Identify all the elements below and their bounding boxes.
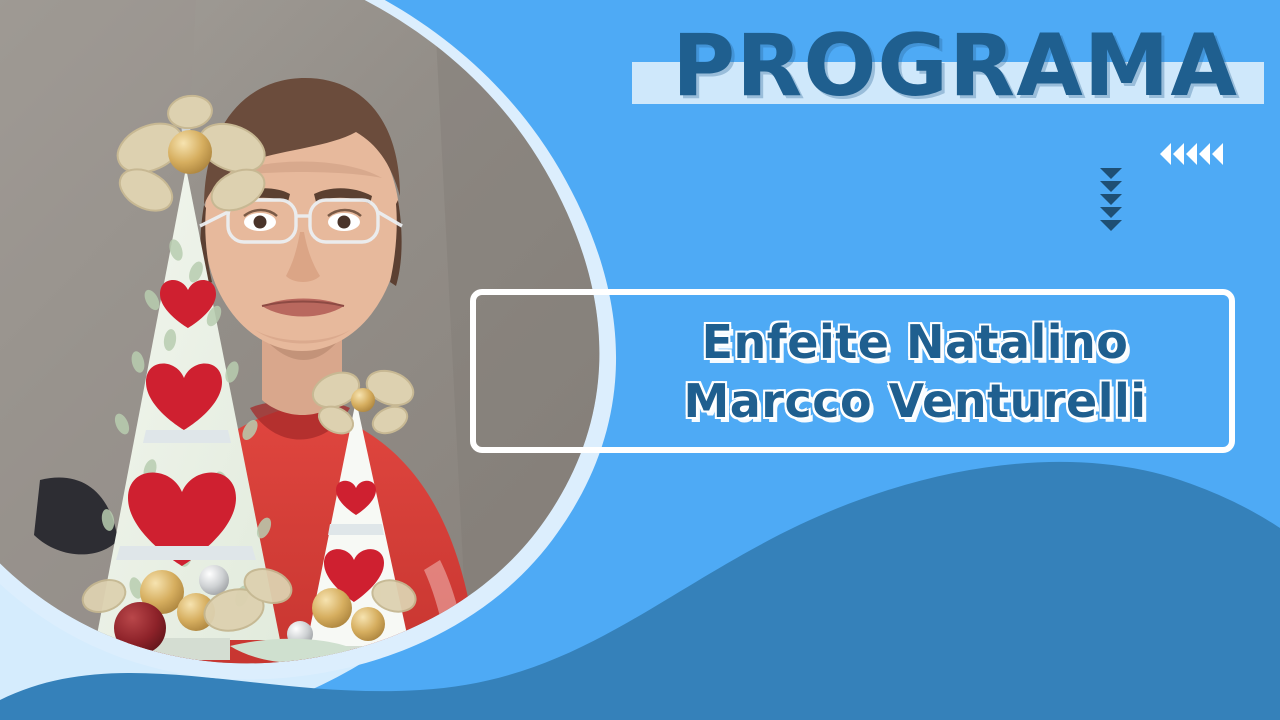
title-line-2: Marcco Venturelli	[683, 372, 1146, 431]
title-card-text: Enfeite Natalino Marcco Venturelli	[600, 300, 1230, 444]
programa-title: PROGRAMA	[640, 18, 1270, 114]
chevron-down-icon	[1100, 194, 1122, 205]
chevron-down-icon	[1100, 220, 1122, 231]
chevron-down-icon	[1100, 181, 1122, 192]
chevron-down-group	[1100, 168, 1122, 231]
chevron-left-icon	[1199, 143, 1210, 165]
chevron-left-icon	[1173, 143, 1184, 165]
slide-canvas: PROGRAMA Enfeite Natalino Marcco Venture…	[0, 0, 1280, 720]
chevron-left-icon	[1212, 143, 1223, 165]
chevron-left-icon	[1160, 143, 1171, 165]
chevron-left-group	[1160, 143, 1223, 165]
chevron-left-icon	[1186, 143, 1197, 165]
chevron-down-icon	[1100, 168, 1122, 179]
title-line-1: Enfeite Natalino	[702, 313, 1129, 372]
chevron-down-icon	[1100, 207, 1122, 218]
